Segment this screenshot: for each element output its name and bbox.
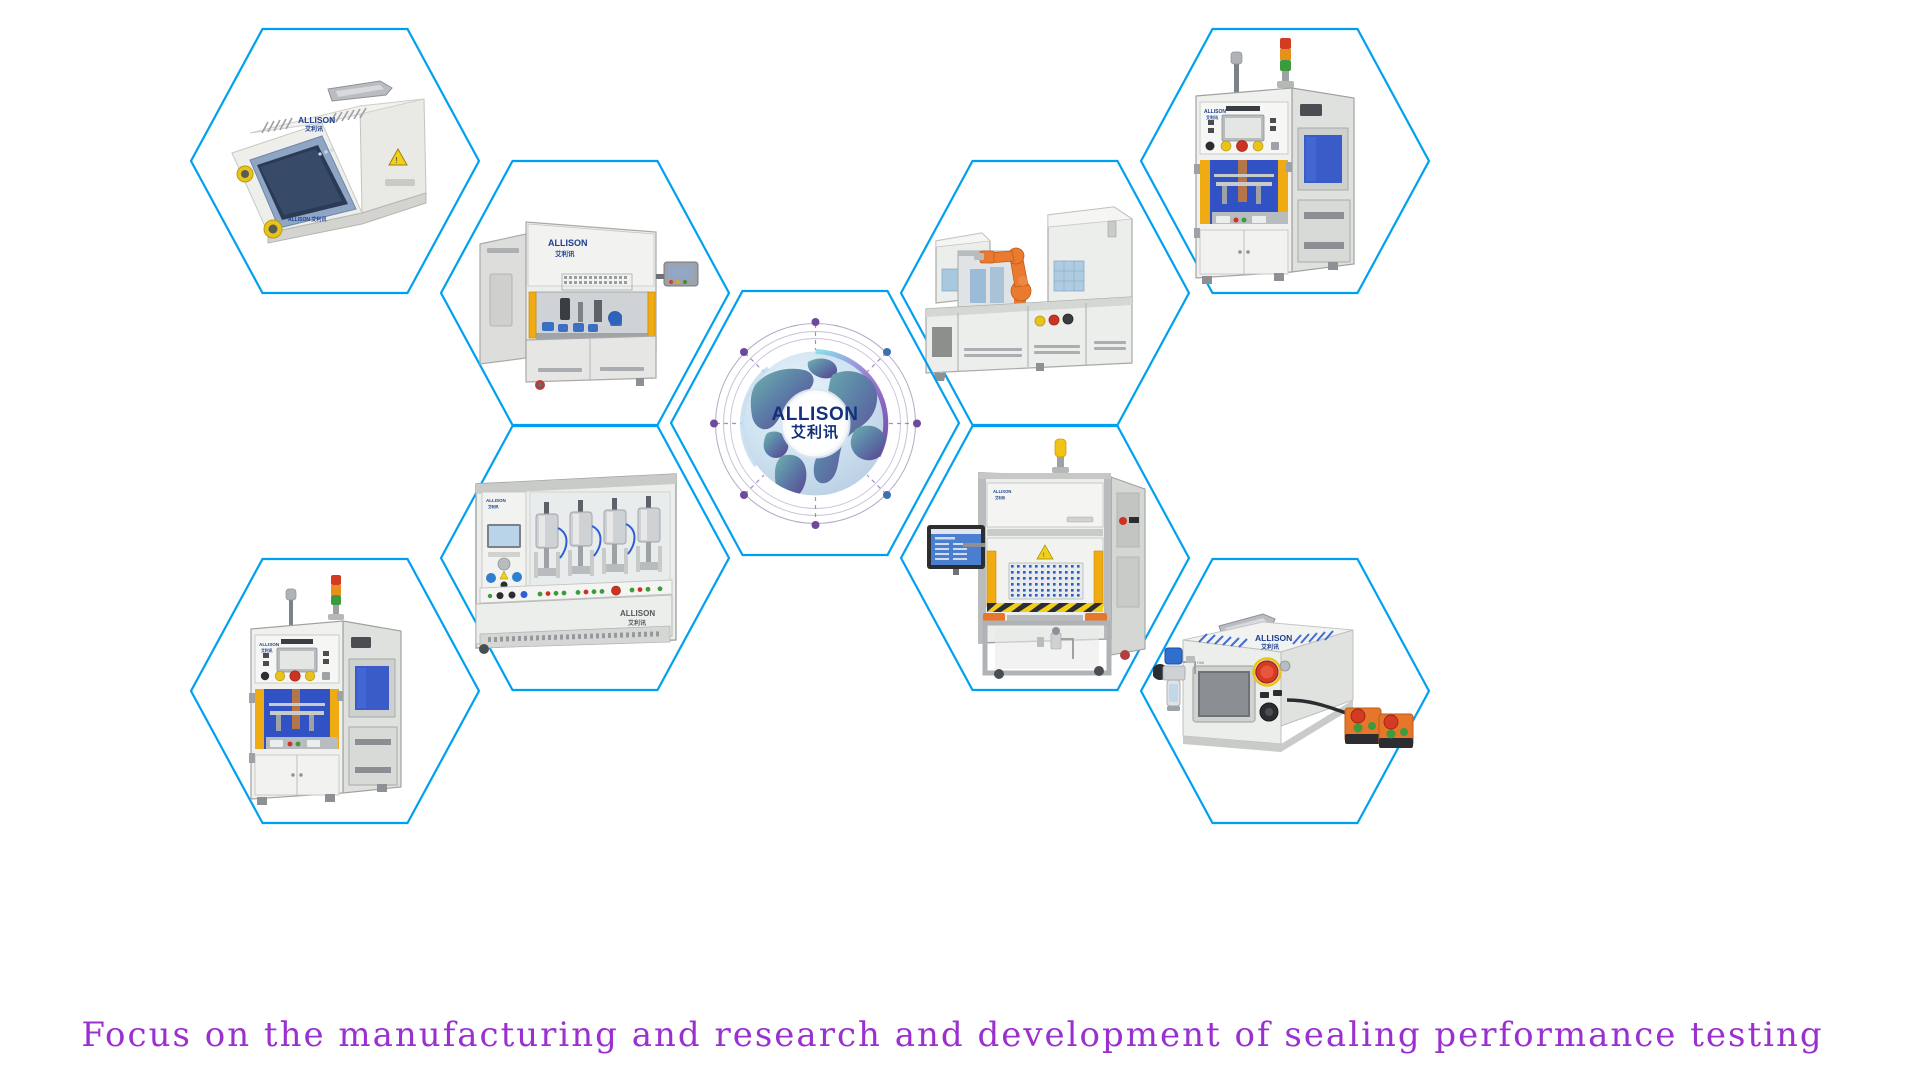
portable-tester-illustration: ALLISON 艾利讯 HMI (1153, 604, 1418, 779)
svg-text:艾利讯: 艾利讯 (261, 648, 273, 653)
cabinet-tester-illustration: ALLISON 艾利讯 (1178, 36, 1393, 286)
svg-text:艾利讯: 艾利讯 (555, 249, 575, 258)
benchtop-leak-tester-illustration: ALLISON 艾利讯 ALLISON 艾利讯 ! (210, 61, 460, 261)
svg-text:艾利讯: 艾利讯 (1206, 114, 1218, 120)
product-hexagon-collage: ALLISON 艾利讯 ALLISON 艾利讯 ! (0, 0, 1905, 1065)
svg-text:艾利讯: 艾利讯 (1261, 643, 1279, 651)
multi-station-bench-illustration: ALLISON 艾利讯 (460, 458, 710, 658)
hex-content: ALLISON 艾利讯 ALLISON 艾利讯 ! (190, 28, 480, 294)
svg-text:艾利讯: 艾利讯 (488, 504, 499, 509)
cabinet-tester-2-illustration: ALLISON 艾利讯 (235, 571, 435, 811)
hex-content: ALLISON 艾利讯 (190, 558, 480, 824)
brand-name-cn: 艾利讯 (772, 425, 859, 441)
hex-content: ALLISON 艾利讯 (440, 425, 730, 691)
hex-content: ALLISON 艾利讯 (1140, 28, 1430, 294)
svg-text:ALLISON 艾利讯: ALLISON 艾利讯 (288, 216, 326, 223)
hex-cabinet-tester-top[interactable]: ALLISON 艾利讯 (1140, 28, 1430, 294)
svg-text:HMI: HMI (1197, 660, 1204, 665)
svg-text:ALLISON: ALLISON (1255, 633, 1292, 643)
globe-brand-badge: ALLISON 艾利讯 (772, 405, 859, 441)
svg-text:艾利讯: 艾利讯 (628, 619, 646, 627)
svg-text:!: ! (396, 156, 398, 165)
hex-benchtop-leak-tester[interactable]: ALLISON 艾利讯 ALLISON 艾利讯 ! (190, 28, 480, 294)
svg-text:艾利讯: 艾利讯 (995, 495, 1006, 500)
brand-name-en: ALLISON (772, 405, 859, 425)
hex-cabinet-tester-bottom[interactable]: ALLISON 艾利讯 (190, 558, 480, 824)
hex-portable-tester[interactable]: ALLISON 艾利讯 HMI (1140, 558, 1430, 824)
page-caption: Focus on the manufacturing and research … (0, 1015, 1905, 1055)
svg-text:ALLISON: ALLISON (298, 115, 335, 125)
svg-text:ALLISON: ALLISON (548, 238, 588, 248)
svg-text:ALLISON: ALLISON (993, 489, 1011, 494)
svg-text:ALLISON: ALLISON (259, 642, 280, 647)
hex-content: ALLISON 艾利讯 HMI (1140, 558, 1430, 824)
svg-text:艾利讯: 艾利讯 (305, 125, 323, 133)
svg-text:ALLISON: ALLISON (620, 609, 655, 618)
hex-multi-station-bench[interactable]: ALLISON 艾利讯 (440, 425, 730, 691)
svg-text:ALLISON: ALLISON (486, 498, 506, 503)
vision-station-illustration: ALLISON 艾利讯 ! (923, 433, 1168, 683)
